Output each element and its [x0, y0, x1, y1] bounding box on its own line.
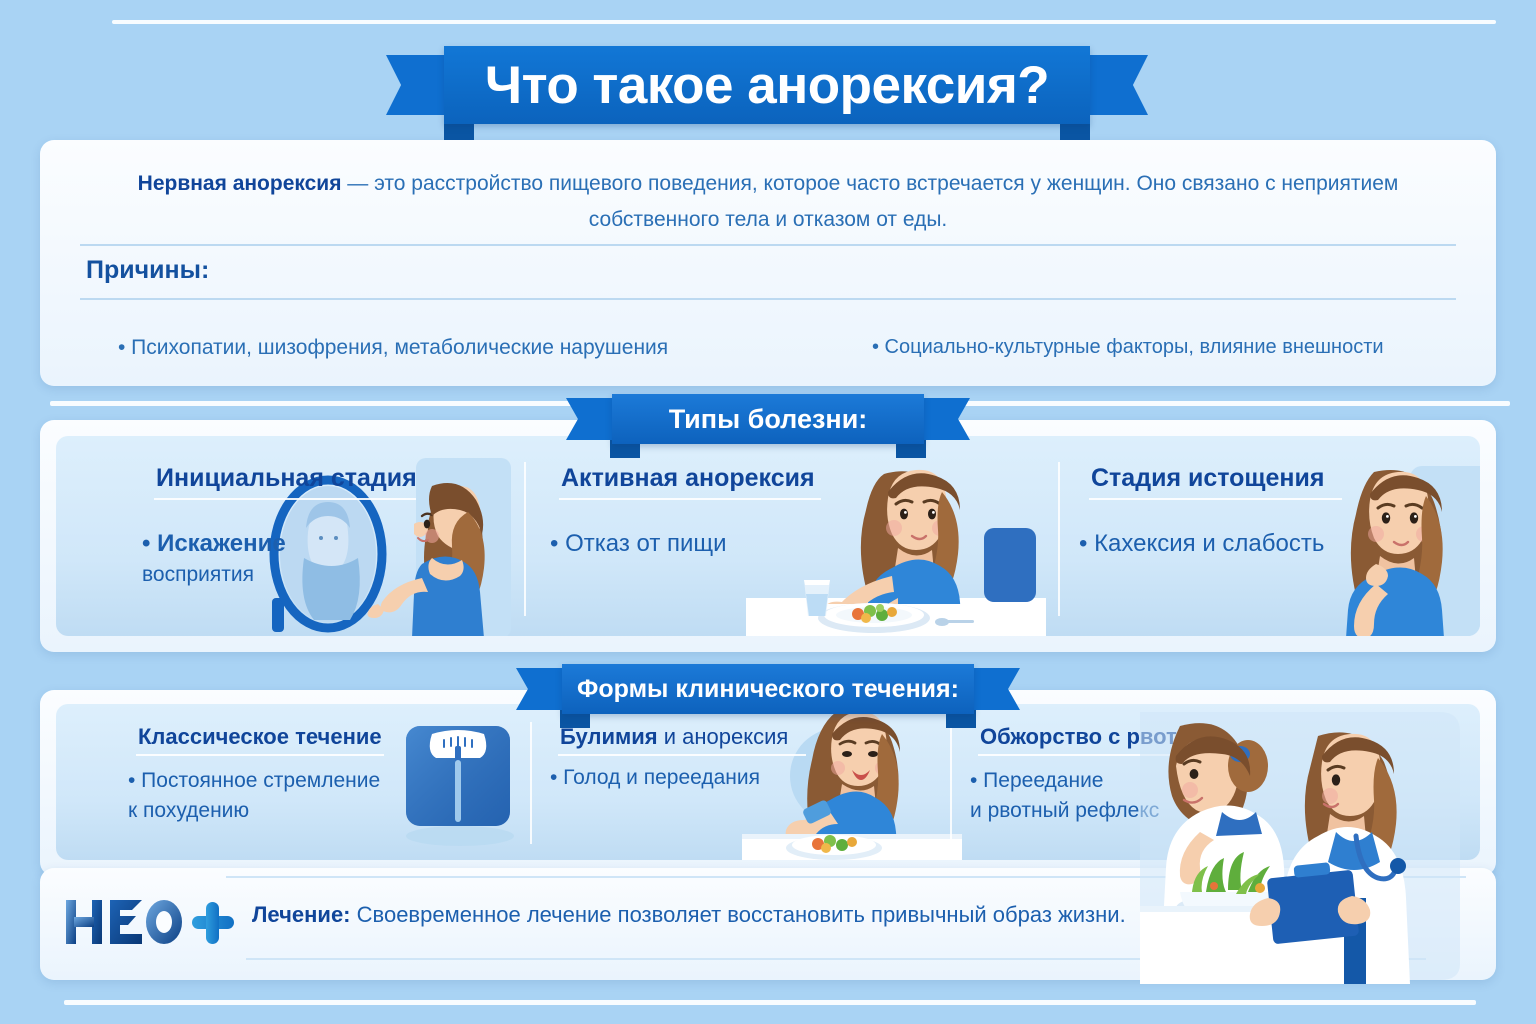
- title-banner: Что такое анорексия?: [386, 46, 1148, 124]
- exhausted-woman-illustration: [1314, 456, 1480, 636]
- intro-rest: — это расстройство пищевого поведения, к…: [341, 172, 1398, 231]
- form-0-underline: [136, 754, 384, 756]
- decorative-rule-bottom: [64, 1000, 1476, 1005]
- form-1-heading: Булимия и анорексия: [560, 724, 788, 750]
- ribbon-tail-left: [566, 398, 612, 440]
- forms-banner: Формы клинического течения:: [516, 664, 1020, 714]
- treatment-text: Лечение: Своевременное лечение позволяет…: [252, 902, 1126, 928]
- type-0-heading: Инициальная стадия: [156, 464, 417, 493]
- intro-divider-top: [80, 244, 1456, 246]
- intro-paragraph: Нервная анорексия — это расстройство пищ…: [88, 166, 1448, 238]
- ribbon-tail-right: [974, 668, 1020, 710]
- type-2-heading: Стадия истощения: [1091, 464, 1324, 493]
- decorative-rule-top: [112, 20, 1496, 24]
- neo-plus-logo: [64, 894, 236, 950]
- type-2-underline: [1089, 498, 1342, 500]
- types-card: Инициальная стадия • Искажение восприяти…: [40, 420, 1496, 652]
- form-1-heading-light: и анорексия: [658, 724, 789, 749]
- treatment-divider-top: [226, 876, 1466, 878]
- ribbon-tail-left: [386, 55, 444, 115]
- bathroom-scale-icon: [392, 712, 524, 852]
- form-2-bullet-line1: • Переедание: [970, 769, 1103, 792]
- type-1-bullet: • Отказ от пищи: [550, 530, 727, 558]
- treatment-label: Лечение:: [252, 902, 351, 927]
- types-panel: Инициальная стадия • Искажение восприяти…: [56, 436, 1480, 636]
- page-title: Что такое анорексия?: [444, 46, 1090, 124]
- ribbon-fold-left: [444, 122, 474, 140]
- forms-panel: Классическое течение • Постоянное стремл…: [56, 704, 1480, 860]
- intro-divider-bottom: [80, 298, 1456, 300]
- intro-lead: Нервная анорексия: [138, 172, 342, 195]
- ribbon-tail-right: [924, 398, 970, 440]
- treatment-divider-bottom: [246, 958, 1426, 960]
- column-divider-1: [524, 462, 526, 616]
- ribbon-tail-left: [516, 668, 562, 710]
- type-1-heading: Активная анорексия: [561, 464, 815, 493]
- types-banner-label: Типы болезни:: [612, 394, 924, 444]
- infographic-root: Что такое анорексия? Нервная анорексия —…: [0, 0, 1536, 1024]
- form-2-heading: Обжорство с рвотой: [980, 724, 1204, 750]
- type-0-bullet-line1: • Искажение: [142, 530, 286, 557]
- type-0-bullet: • Искажение восприятия: [142, 528, 286, 590]
- form-2-bullet: • Переедание и рвотный рефлекс: [970, 766, 1159, 826]
- form-0-bullet-line2: к похудению: [128, 796, 380, 826]
- cause-item-1: • Психопатии, шизофрения, метаболические…: [118, 336, 668, 360]
- form-0-heading: Классическое течение: [138, 724, 382, 750]
- form-0-bullet-line1: • Постоянное стремление: [128, 769, 380, 792]
- forms-banner-label: Формы клинического течения:: [562, 664, 974, 714]
- type-1-underline: [559, 498, 821, 500]
- forms-card: Классическое течение • Постоянное стремл…: [40, 690, 1496, 876]
- treatment-card: Лечение: Своевременное лечение позволяет…: [40, 868, 1496, 980]
- ribbon-fold-right: [1060, 122, 1090, 140]
- form-1-bullet: • Голод и переедания: [550, 766, 760, 790]
- type-0-bullet-line2: восприятия: [142, 559, 286, 590]
- form-1-underline: [558, 754, 806, 756]
- causes-heading: Причины:: [86, 256, 209, 285]
- ribbon-tail-right: [1090, 55, 1148, 115]
- form-2-bullet-line2: и рвотный рефлекс: [970, 796, 1159, 826]
- cause-item-2: • Социально-культурные факторы, влияние …: [872, 336, 1384, 359]
- types-banner: Типы болезни:: [566, 394, 970, 444]
- type-0-underline: [154, 498, 416, 500]
- treatment-description: Своевременное лечение позволяет восстано…: [351, 902, 1126, 927]
- form-divider-2: [950, 722, 952, 844]
- column-divider-2: [1058, 462, 1060, 616]
- form-2-underline: [978, 754, 1206, 756]
- type-2-bullet: • Кахексия и слабость: [1079, 530, 1324, 558]
- intro-card: Нервная анорексия — это расстройство пищ…: [40, 140, 1496, 386]
- form-0-bullet: • Постоянное стремление к похудению: [128, 766, 380, 826]
- form-divider-1: [530, 722, 532, 844]
